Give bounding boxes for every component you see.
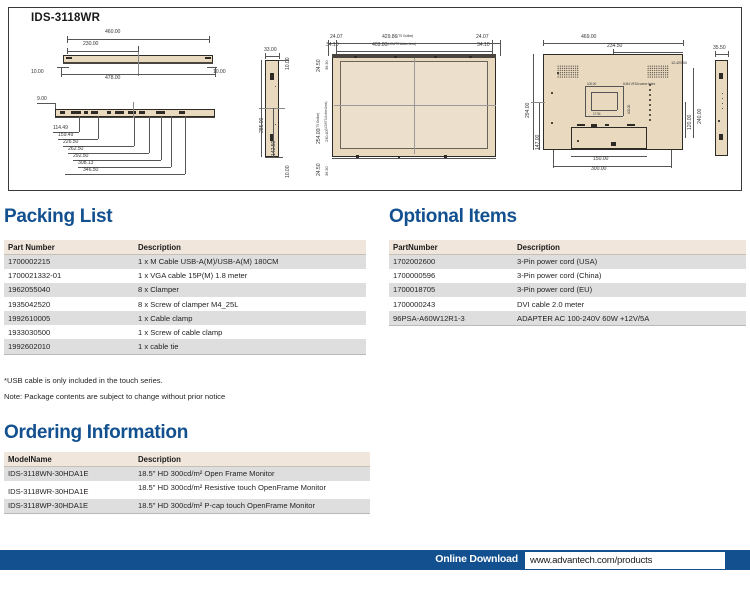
table-row: 1962055040 8 x Clamper (4, 283, 366, 297)
cell-description: 8 x Screw of clamper M4_25L (134, 297, 366, 311)
cell-description: 8 x Clamper (134, 283, 366, 297)
dim-33: 33.00 (264, 47, 276, 53)
cell-description: 3-Pin power cord (USA) (513, 255, 746, 270)
table-row: 1935042520 8 x Screw of clamper M4_25L (4, 297, 366, 311)
view-side-left: 33.00 10.00 285.00 142.50 10.00 (249, 38, 319, 178)
cell-model-name: IDS-3118WN-30HDA1E (4, 467, 134, 482)
table-row: 1700000243 DVI cable 2.0 meter (389, 297, 746, 311)
online-download-url[interactable]: www.advantech.com/products (525, 552, 725, 569)
table-header-row: Part Number Description (4, 240, 366, 255)
cell-description: 1 x cable tie (134, 339, 366, 354)
cell-description: 1 x M Cable USB-A(M)/USB-A(M) 180CM (134, 255, 366, 270)
dim-254: 254.00(TS Outline) (316, 129, 322, 144)
dim-17-94: 17.94 (593, 112, 600, 116)
dim-234-50: 234.50 (607, 43, 622, 49)
table-row: 1700000596 3-Pin power cord (China) (389, 269, 746, 283)
cell-description: 3-Pin power cord (EU) (513, 283, 746, 297)
dim-120: 120.00 (687, 115, 693, 130)
dim-10-left: 10.00 (31, 69, 43, 75)
packing-list-heading: Packing List (4, 206, 112, 228)
cell-part-number: 1992602010 (4, 339, 134, 354)
dim-308: 308.13 (78, 160, 93, 166)
dim-36-30-top: 36.30 (324, 60, 329, 70)
table-header-row: ModelName Description (4, 452, 370, 467)
cell-model-name: IDS-3118WR-30HDA1E (4, 481, 134, 499)
dim-262: 262.50 (68, 146, 83, 152)
drawing-title: IDS-3118WR (31, 12, 100, 24)
view-side-right: 35.50 (709, 38, 749, 178)
table-row: IDS-3118WP-30HDA1E 18.5" HD 300cd/m² P-c… (4, 499, 370, 514)
online-download-label: Online Download (435, 553, 518, 565)
optional-items-table: PartNumber Description 1702002600 3-Pin … (389, 240, 746, 326)
dim-429-86: 429.86(TS Outline) (382, 34, 397, 40)
dim-240: 240.00 (697, 109, 703, 124)
optional-items-heading: Optional Items (389, 206, 517, 228)
ordering-col-model-name: ModelName (4, 452, 134, 467)
packing-col-part-number: Part Number (4, 240, 134, 255)
dim-346: 346.50 (83, 167, 98, 173)
dim-100-b: 100.00 (627, 105, 631, 114)
dim-24-07-right: 24.07 (476, 34, 488, 40)
dim-24-50-top: 24.50 (316, 60, 322, 72)
cell-part-number: 1933030500 (4, 325, 134, 339)
table-row: 96PSA-A60W12R1-3 ADAPTER AC 100-240V 60W… (389, 311, 746, 326)
cell-part-number: 1700021332-01 (4, 269, 134, 283)
dim-142: 142.50 (271, 141, 277, 156)
dim-230: 230.00 (83, 41, 98, 47)
table-row: 1933030500 1 x Screw of cable clamp (4, 325, 366, 339)
dim-9: 9.00 (37, 96, 47, 102)
packing-note-usb: *USB cable is only included in the touch… (4, 376, 163, 385)
optional-col-part-number: PartNumber (389, 240, 513, 255)
table-row: 1702002600 3-Pin power cord (USA) (389, 255, 746, 270)
cell-part-number: 96PSA-A60W12R1-3 (389, 311, 513, 326)
packing-list-table: Part Number Description 1700002215 1 x M… (4, 240, 366, 355)
cell-description: 1 x VGA cable 15P(M) 1.8 meter (134, 269, 366, 283)
dim-36-30-bottom: 36.30 (324, 166, 329, 176)
dim-100-a: 100.00 (587, 82, 596, 86)
cell-description: 18.5" HD 300cd/m² Resistive touch OpenFr… (134, 481, 370, 499)
ordering-information-table: ModelName Description IDS-3118WN-30HDA1E… (4, 452, 370, 514)
dim-300: 300.00 (591, 166, 606, 172)
packing-note-change: Note: Package contents are subject to ch… (4, 392, 225, 401)
drawing-panel: IDS-3118WR 460.00 230.00 10.00 10.00 (8, 7, 742, 191)
dim-24-50-bottom: 24.50 (316, 164, 322, 176)
dim-285: 285.00 (259, 118, 265, 133)
table-row: 1992610005 1 x Cable clamp (4, 311, 366, 325)
dim-292: 292.50 (73, 153, 88, 159)
dim-147: 147.00 (535, 135, 541, 150)
cell-model-name: IDS-3118WP-30HDA1E (4, 499, 134, 514)
view-rear: 469.00 234.50 100.00 8-M4 VESA screw hol… (529, 32, 709, 182)
view-front: 24.07 429.86(TS Outline) 24.07 34.10 409… (314, 34, 514, 184)
ordering-col-description: Description (134, 452, 370, 467)
cell-description: 1 x Cable clamp (134, 311, 366, 325)
cell-description: DVI cable 2.0 meter (513, 297, 746, 311)
cell-part-number: 1935042520 (4, 297, 134, 311)
dim-460: 460.00 (105, 29, 120, 35)
table-row: 1700018705 3-Pin power cord (EU) (389, 283, 746, 297)
cell-description: 18.5" HD 300cd/m² P-cap touch OpenFrame … (134, 499, 370, 514)
datasheet-page: IDS-3118WR 460.00 230.00 10.00 10.00 (0, 0, 750, 591)
dim-478: 478.00 (105, 75, 120, 81)
dim-226: 226.50 (63, 139, 78, 145)
cell-part-number: 1700000243 (389, 297, 513, 311)
cell-description: 3-Pin power cord (China) (513, 269, 746, 283)
cell-part-number: 1700002215 (4, 255, 134, 270)
dim-294: 294.00 (525, 103, 531, 118)
cell-part-number: 1702002600 (389, 255, 513, 270)
dim-150: 150.00 (593, 156, 608, 162)
dim-10-bottom: 10.00 (285, 166, 291, 178)
view-top: 460.00 230.00 10.00 10.00 (29, 30, 229, 85)
cell-part-number: 1962055040 (4, 283, 134, 297)
table-row: 1992602010 1 x cable tie (4, 339, 366, 354)
table-header-row: PartNumber Description (389, 240, 746, 255)
cell-part-number: 1700000596 (389, 269, 513, 283)
packing-col-description: Description (134, 240, 366, 255)
dim-230-40: 230.40(LCM/TS Active Area) (324, 130, 329, 142)
dim-12-phi-3-50: 12-Ø3.50 (671, 60, 687, 65)
cell-description: 1 x Screw of cable clamp (134, 325, 366, 339)
cell-part-number: 1700018705 (389, 283, 513, 297)
table-row: 1700002215 1 x M Cable USB-A(M)/USB-A(M)… (4, 255, 366, 270)
cell-part-number: 1992610005 (4, 311, 134, 325)
dim-34-10-right: 34.10 (477, 42, 489, 48)
dim-114: 114.49 (53, 125, 68, 131)
cell-description: 18.5" HD 300cd/m² Open Frame Monitor (134, 467, 370, 482)
dim-159: 159.49 (58, 132, 73, 138)
table-row: IDS-3118WR-30HDA1E 18.5" HD 300cd/m² Res… (4, 481, 370, 499)
table-row: 1700021332-01 1 x VGA cable 15P(M) 1.8 m… (4, 269, 366, 283)
cell-description: ADAPTER AC 100-240V 60W +12V/5A (513, 311, 746, 326)
ordering-information-heading: Ordering Information (4, 422, 188, 444)
optional-col-description: Description (513, 240, 746, 255)
view-bottom: 9.00 114.49 159.49 (29, 96, 229, 186)
table-row: IDS-3118WN-30HDA1E 18.5" HD 300cd/m² Ope… (4, 467, 370, 482)
dim-409-80: 409.80(LCM/TS Active Area) (372, 42, 387, 48)
dim-469: 469.00 (581, 34, 596, 40)
